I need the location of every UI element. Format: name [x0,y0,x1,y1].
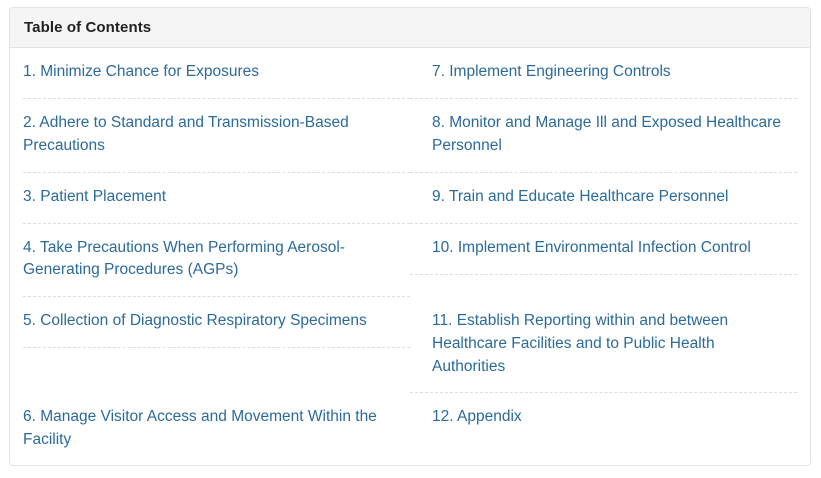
toc-cell-left: 1. Minimize Chance for Exposures [23,48,410,99]
toc-link-12[interactable]: 12. Appendix [432,408,522,425]
toc-body: 1. Minimize Chance for Exposures 7. Impl… [10,48,810,466]
table-row: 1. Minimize Chance for Exposures 7. Impl… [23,48,797,99]
toc-cell-left: 2. Adhere to Standard and Transmission-B… [23,99,410,173]
table-row: 2. Adhere to Standard and Transmission-B… [23,99,797,173]
toc-cell-right: 11. Establish Reporting within and betwe… [410,297,797,393]
table-of-contents-panel: Table of Contents 1. Minimize Chance for… [9,7,811,466]
toc-cell-right: 10. Implement Environmental Infection Co… [410,224,797,298]
toc-link-1[interactable]: 1. Minimize Chance for Exposures [23,63,259,80]
toc-link-7[interactable]: 7. Implement Engineering Controls [432,63,671,80]
toc-cell-right: 12. Appendix [410,393,797,466]
toc-link-3[interactable]: 3. Patient Placement [23,188,166,205]
toc-link-10[interactable]: 10. Implement Environmental Infection Co… [432,239,751,256]
table-row: 4. Take Precautions When Performing Aero… [23,224,797,298]
toc-link-8[interactable]: 8. Monitor and Manage Ill and Exposed He… [432,114,781,154]
toc-cell-right: 7. Implement Engineering Controls [410,48,797,99]
toc-grid: 1. Minimize Chance for Exposures 7. Impl… [23,48,797,466]
page-title: Table of Contents [24,19,151,36]
toc-link-2[interactable]: 2. Adhere to Standard and Transmission-B… [23,114,349,154]
toc-link-6[interactable]: 6. Manage Visitor Access and Movement Wi… [23,408,377,448]
panel-header: Table of Contents [10,8,810,48]
toc-link-9[interactable]: 9. Train and Educate Healthcare Personne… [432,188,728,205]
toc-cell-left: 6. Manage Visitor Access and Movement Wi… [23,393,410,466]
toc-link-4[interactable]: 4. Take Precautions When Performing Aero… [23,239,345,279]
table-row: 5. Collection of Diagnostic Respiratory … [23,297,797,393]
table-row: 3. Patient Placement 9. Train and Educat… [23,173,797,224]
toc-cell-left: 5. Collection of Diagnostic Respiratory … [23,297,410,393]
toc-cell-left: 3. Patient Placement [23,173,410,224]
toc-link-11[interactable]: 11. Establish Reporting within and betwe… [432,312,728,375]
table-row: 6. Manage Visitor Access and Movement Wi… [23,393,797,466]
toc-cell-left: 4. Take Precautions When Performing Aero… [23,224,410,298]
toc-cell-right: 8. Monitor and Manage Ill and Exposed He… [410,99,797,173]
toc-cell-right: 9. Train and Educate Healthcare Personne… [410,173,797,224]
toc-link-5[interactable]: 5. Collection of Diagnostic Respiratory … [23,312,367,329]
